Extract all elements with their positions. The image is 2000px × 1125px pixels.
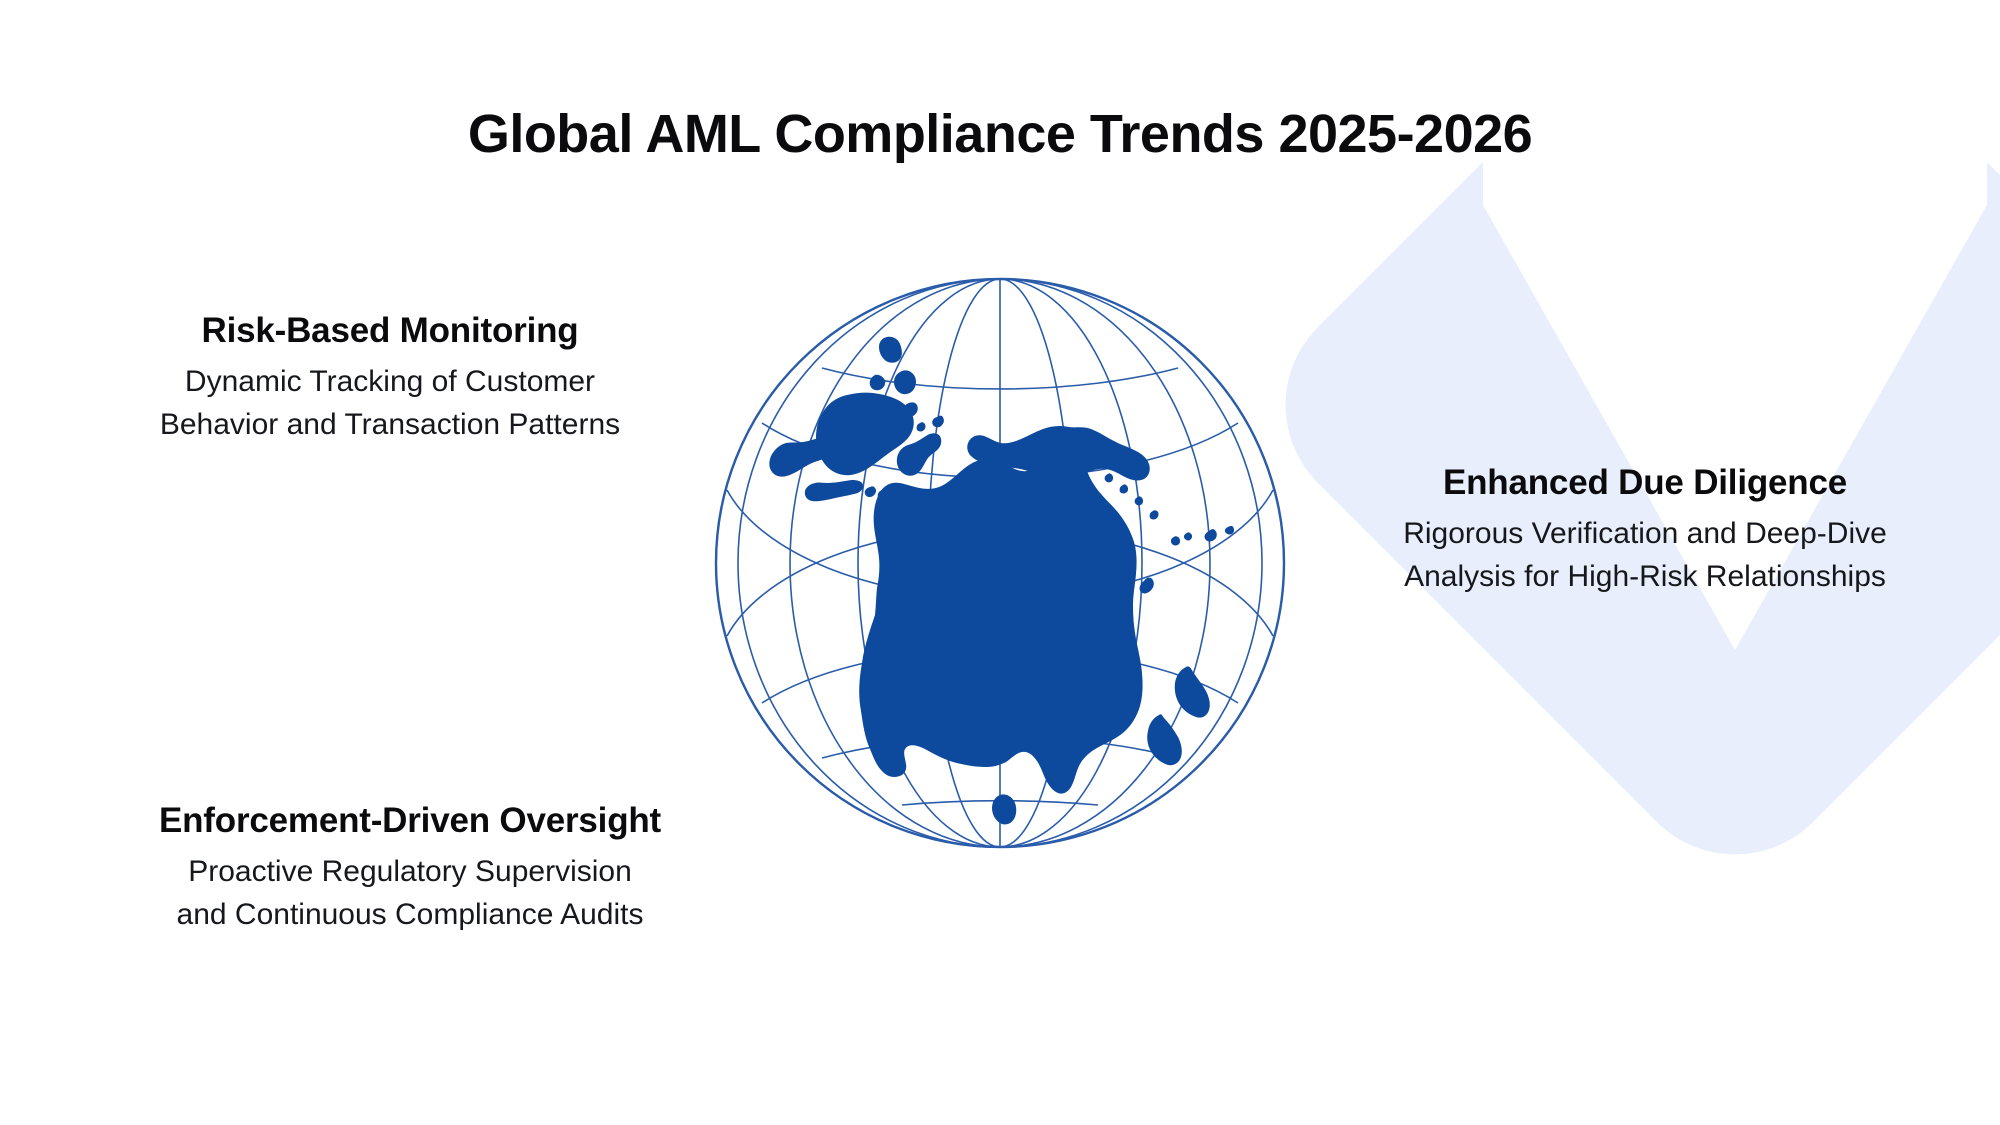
page-title: Global AML Compliance Trends 2025-2026 [0,103,2000,165]
trend-description-line: and Continuous Compliance Audits [45,894,775,937]
trend-description-line: Proactive Regulatory Supervision [45,851,775,894]
trend-risk-based-monitoring: Risk-Based Monitoring Dynamic Tracking o… [40,310,740,446]
trend-description-line: Rigorous Verification and Deep-Dive [1300,513,1990,556]
trend-description: Dynamic Tracking of Customer Behavior an… [40,361,740,446]
trend-enforcement-driven-oversight: Enforcement-Driven Oversight Proactive R… [45,800,775,936]
trend-description-line: Dynamic Tracking of Customer [40,361,740,404]
trend-title: Enforcement-Driven Oversight [45,800,775,841]
trend-description-line: Behavior and Transaction Patterns [40,404,740,447]
trend-description-line: Analysis for High-Risk Relationships [1300,556,1990,599]
globe-illustration [712,275,1288,851]
infographic-canvas: Global AML Compliance Trends 2025-2026 [0,0,2000,1125]
trend-description: Rigorous Verification and Deep-Dive Anal… [1300,513,1990,598]
trend-description: Proactive Regulatory Supervision and Con… [45,851,775,936]
trend-title: Risk-Based Monitoring [40,310,740,351]
trend-enhanced-due-diligence: Enhanced Due Diligence Rigorous Verifica… [1300,462,1990,598]
trend-title: Enhanced Due Diligence [1300,462,1990,503]
